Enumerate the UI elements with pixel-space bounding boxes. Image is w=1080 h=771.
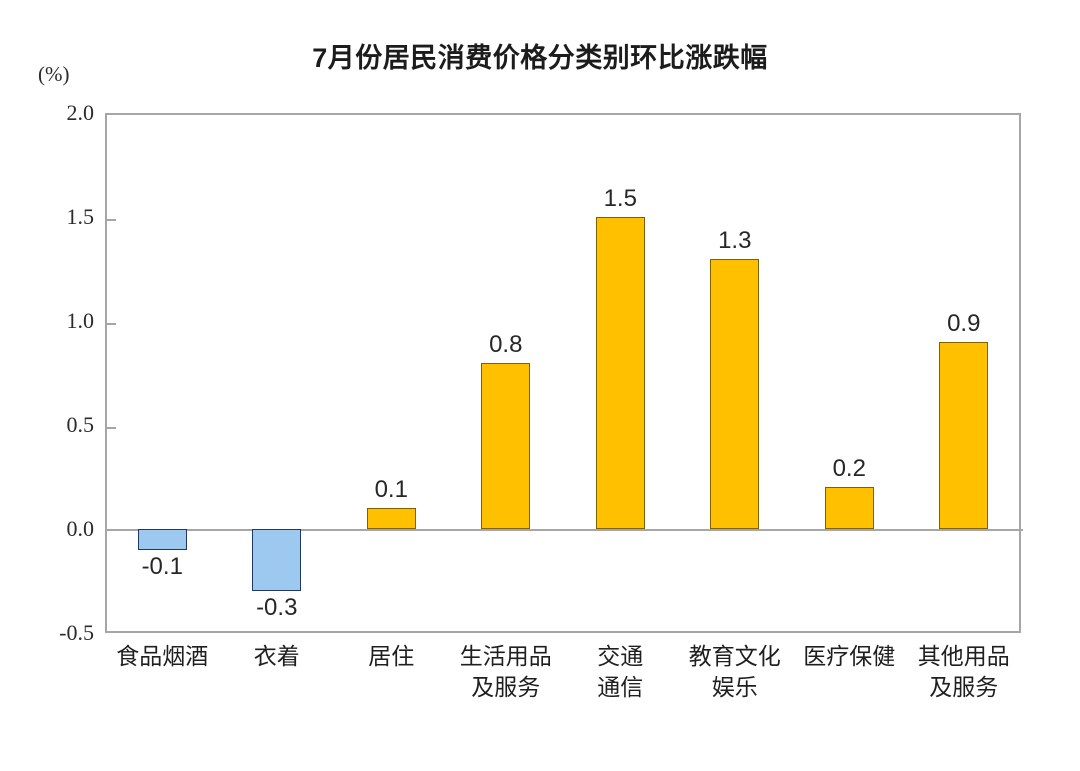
bar bbox=[138, 529, 187, 550]
bar bbox=[825, 487, 874, 529]
bars-layer: -0.1-0.30.10.81.51.30.20.9 bbox=[105, 113, 1021, 633]
bar-value-label: 0.2 bbox=[799, 455, 899, 483]
y-axis-tick-label: 1.5 bbox=[20, 204, 94, 230]
y-axis-tick-label: 0.5 bbox=[20, 412, 94, 438]
bar-value-label: 0.9 bbox=[914, 310, 1014, 338]
bar bbox=[596, 217, 645, 529]
bar-chart: 7月份居民消费价格分类别环比涨跌幅 (%) 2.01.51.00.50.0-0.… bbox=[0, 0, 1080, 771]
bar-value-label: -0.1 bbox=[112, 553, 212, 581]
bar bbox=[710, 259, 759, 529]
y-axis-unit-label: (%) bbox=[38, 62, 69, 87]
bar-value-label: 1.3 bbox=[685, 227, 785, 255]
bar bbox=[481, 363, 530, 529]
bar-value-label: 0.8 bbox=[456, 331, 556, 359]
page-title: 7月份居民消费价格分类别环比涨跌幅 bbox=[0, 36, 1080, 75]
bar bbox=[939, 342, 988, 529]
y-axis-tick-label: 0.0 bbox=[20, 516, 94, 542]
x-axis-category-label: 其他用品及服务 bbox=[889, 641, 1039, 703]
bar bbox=[252, 529, 301, 591]
y-axis-tick-labels: 2.01.51.00.50.0-0.5 bbox=[10, 113, 94, 633]
bar-value-label: 0.1 bbox=[341, 476, 441, 504]
y-axis-tick-label: 2.0 bbox=[20, 100, 94, 126]
bar-value-label: 1.5 bbox=[570, 185, 670, 213]
y-axis-tick-label: 1.0 bbox=[20, 308, 94, 334]
bar-value-label: -0.3 bbox=[227, 594, 327, 622]
x-axis-category-labels: 食品烟酒衣着居住生活用品及服务交通通信教育文化娱乐医疗保健其他用品及服务 bbox=[105, 641, 1021, 761]
bar bbox=[367, 508, 416, 529]
y-axis-tick-label: -0.5 bbox=[20, 620, 94, 646]
